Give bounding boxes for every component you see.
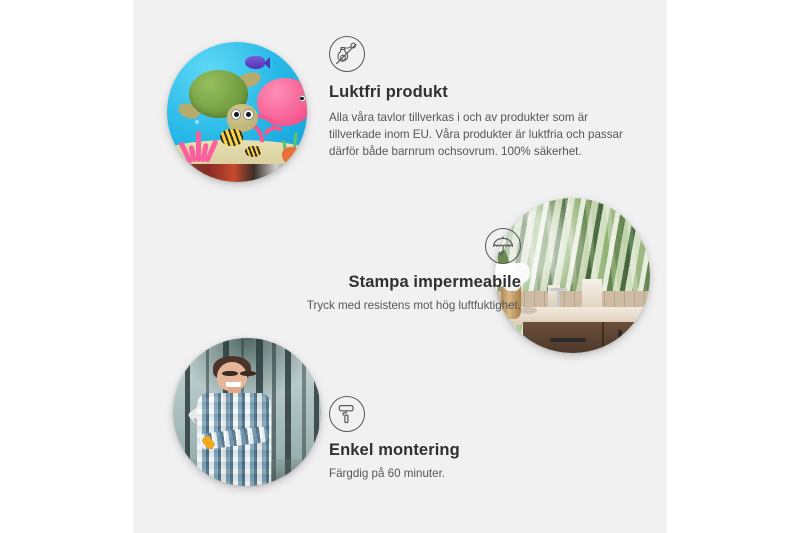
- feature-title: Luktfri produkt: [329, 83, 623, 103]
- feature-body: Alla våra tavlor tillverkas i och av pro…: [329, 109, 623, 160]
- cabinet-seam: [602, 322, 604, 353]
- ocean-scene: [167, 42, 307, 182]
- feature-body: Färgdig på 60 minuter.: [329, 465, 629, 482]
- no-fragrance-spray-bottle-icon: [329, 36, 365, 72]
- woman-paint-roller-forest-disc: [173, 338, 321, 486]
- turtle-eye: [231, 109, 241, 120]
- cabinet-handle: [618, 330, 622, 344]
- feature-waterproof: Stampa impermeabile Tryck med resistens …: [191, 228, 521, 314]
- feature-title: Stampa impermeabile: [191, 273, 521, 293]
- feature-panel: Luktfri produkt Alla våra tavlor tillver…: [133, 0, 667, 533]
- yellow-fish-icon: [245, 146, 260, 157]
- feature-body: Tryck med resistens mot hög luftfuktighe…: [191, 297, 521, 314]
- cabinet-handle: [550, 338, 585, 342]
- wooden-cabinet: [523, 322, 650, 353]
- octopus-eye: [299, 95, 306, 102]
- forest-scene: [173, 338, 321, 486]
- purple-fish-icon: [245, 56, 265, 69]
- turtle-eye: [243, 109, 253, 120]
- turtle-head: [227, 104, 258, 132]
- faucet-icon: [557, 291, 560, 308]
- disc-bottom-strip: [167, 164, 307, 182]
- underwater-cartoon-disc: [167, 42, 307, 182]
- feature-odourless: Luktfri produkt Alla våra tavlor tillver…: [329, 36, 623, 160]
- paint-roller-icon: [329, 396, 365, 432]
- umbrella-icon: [485, 228, 521, 264]
- feature-easy-mounting: Enkel montering Färgdig på 60 minuter.: [329, 396, 629, 482]
- soap-dish: [520, 307, 537, 315]
- yellow-fish-icon: [220, 129, 242, 146]
- feature-title: Enkel montering: [329, 441, 629, 461]
- coral-icon: [181, 126, 217, 162]
- screenshot-stage: Luktfri produkt Alla våra tavlor tillver…: [0, 0, 800, 533]
- feature-icon-wrap: [191, 228, 521, 264]
